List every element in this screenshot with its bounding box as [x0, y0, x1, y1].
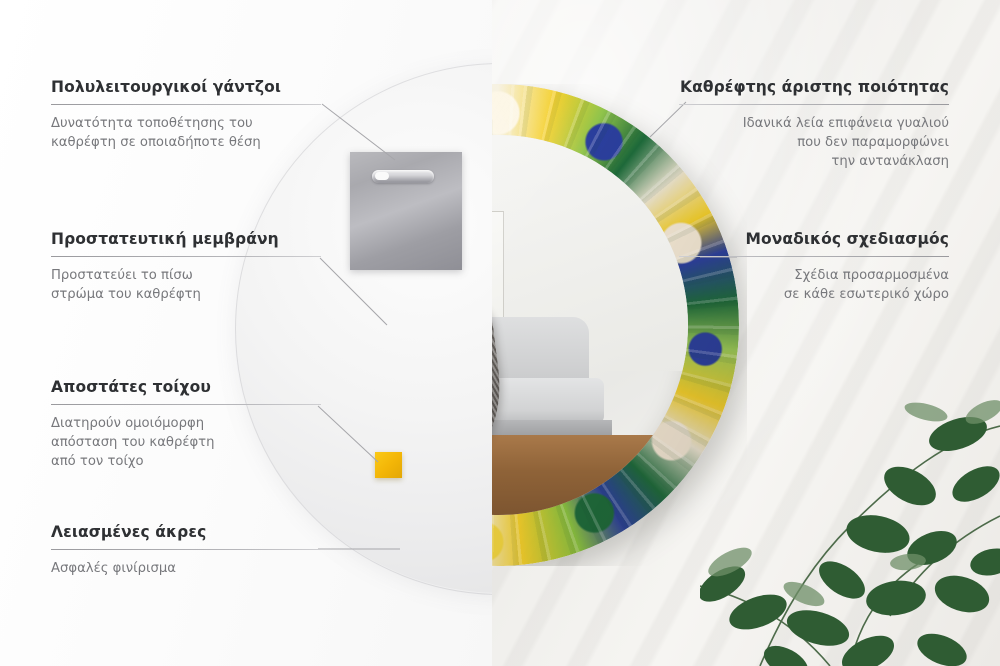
- callout-spacers-body-line: από τον τοίχο: [51, 452, 321, 471]
- callout-edges-rule: [51, 549, 321, 550]
- callout-membrane-body-line: στρώμα του καθρέφτη: [51, 285, 321, 304]
- bracket-keyhole-slot: [372, 170, 434, 183]
- callout-membrane-body: Προστατεύει το πίσω στρώμα του καθρέφτη: [51, 266, 321, 304]
- callout-hooks: Πολυλειτουργικοί γάντζοι Δυνατότητα τοπο…: [51, 77, 321, 152]
- callout-hooks-body-line: Δυνατότητα τοποθέτησης του: [51, 114, 321, 133]
- infographic-canvas: Πολυλειτουργικοί γάντζοι Δυνατότητα τοπο…: [0, 0, 1000, 666]
- callout-edges-title: Λειασμένες άκρες: [51, 522, 321, 542]
- mirror-glass: [492, 135, 688, 515]
- callout-spacers-body: Διατηρούν ομοιόμορφη απόσταση του καθρέφ…: [51, 414, 321, 471]
- callout-quality-mirror-body-line: Ιδανικά λεία επιφάνεια γυαλιού: [679, 114, 949, 133]
- callout-quality-mirror-rule: [679, 104, 949, 105]
- foliage-branch: [700, 366, 1000, 666]
- callout-spacers-body-line: απόσταση του καθρέφτη: [51, 433, 321, 452]
- callout-quality-mirror-body-line: την αντανάκλαση: [679, 152, 949, 171]
- hanging-bracket-plate: [350, 152, 462, 270]
- callout-edges-body: Ασφαλές φινίρισμα: [51, 559, 321, 578]
- callout-membrane-rule: [51, 256, 321, 257]
- callout-hooks-body-line: καθρέφτη σε οποιαδήποτε θέση: [51, 133, 321, 152]
- callout-spacers-body-line: Διατηρούν ομοιόμορφη: [51, 414, 321, 433]
- callout-hooks-body: Δυνατότητα τοποθέτησης του καθρέφτη σε ο…: [51, 114, 321, 152]
- callout-membrane: Προστατευτική μεμβράνη Προστατεύει το πί…: [51, 229, 321, 304]
- callout-spacers: Αποστάτες τοίχου Διατηρούν ομοιόμορφη απ…: [51, 377, 321, 471]
- glass-sheen: [492, 135, 688, 515]
- callout-unique-design: Μοναδικός σχεδιασμός Σχέδια προσαρμοσμέν…: [679, 229, 949, 304]
- callout-unique-design-body-line: σε κάθε εσωτερικό χώρο: [679, 285, 949, 304]
- callout-quality-mirror: Καθρέφτης άριστης ποιότητας Ιδανικά λεία…: [679, 77, 949, 171]
- callout-quality-mirror-body: Ιδανικά λεία επιφάνεια γυαλιού που δεν π…: [679, 114, 949, 171]
- callout-membrane-body-line: Προστατεύει το πίσω: [51, 266, 321, 285]
- callout-unique-design-rule: [679, 256, 949, 257]
- callout-quality-mirror-title: Καθρέφτης άριστης ποιότητας: [679, 77, 949, 97]
- wall-spacer: [375, 452, 402, 478]
- callout-quality-mirror-body-line: που δεν παραμορφώνει: [679, 133, 949, 152]
- callout-edges-body-line: Ασφαλές φινίρισμα: [51, 559, 321, 578]
- callout-membrane-title: Προστατευτική μεμβράνη: [51, 229, 321, 249]
- callout-edges: Λειασμένες άκρες Ασφαλές φινίρισμα: [51, 522, 321, 578]
- callout-spacers-rule: [51, 404, 321, 405]
- callout-unique-design-title: Μοναδικός σχεδιασμός: [679, 229, 949, 249]
- callout-unique-design-body: Σχέδια προσαρμοσμένα σε κάθε εσωτερικό χ…: [679, 266, 949, 304]
- callout-spacers-title: Αποστάτες τοίχου: [51, 377, 321, 397]
- callout-hooks-title: Πολυλειτουργικοί γάντζοι: [51, 77, 321, 97]
- callout-unique-design-body-line: Σχέδια προσαρμοσμένα: [679, 266, 949, 285]
- callout-hooks-rule: [51, 104, 321, 105]
